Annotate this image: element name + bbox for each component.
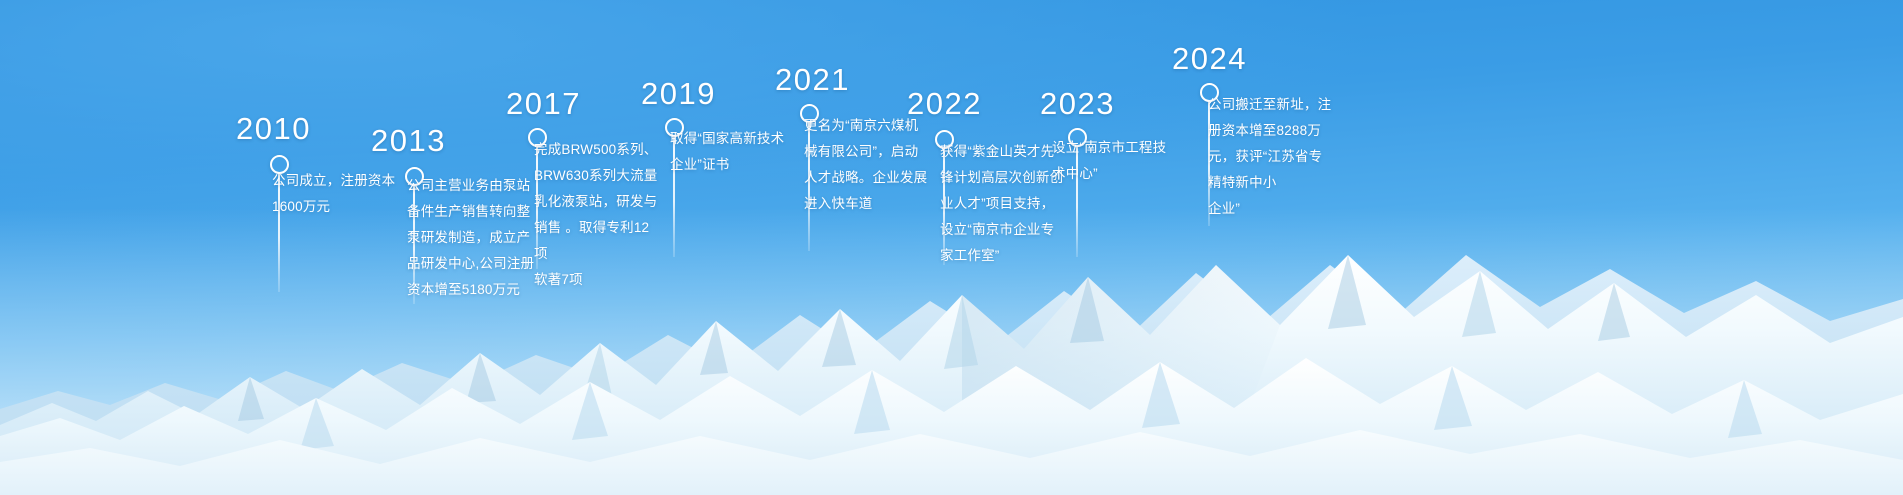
event-description: 获得“紫金山英才先 锋计划高层次创新创 业人才”项目支持， 设立“南京市企业专 … <box>940 139 1068 269</box>
event-description: 更名为“南京六煤机 械有限公司”，启动 人才战略。企业发展 进入快车道 <box>804 113 932 217</box>
event-year-label: 2024 <box>1172 43 1247 74</box>
event-description: 公司搬迁至新址，注 册资本增至8288万 元，获评“江苏省专 精特新中小 企业” <box>1208 92 1338 222</box>
event-year-label: 2022 <box>907 88 982 119</box>
event-year-label: 2019 <box>641 78 716 109</box>
event-description: 取得“国家高新技术 企业”证书 <box>670 126 798 178</box>
event-year-label: 2023 <box>1040 88 1115 119</box>
mountain-foreground-snowfield <box>0 400 1903 495</box>
event-description: 公司成立，注册资本 1600万元 <box>272 168 402 220</box>
event-description: 公司主营业务由泵站 备件生产销售转向整 泵研发制造，成立产 品研发中心,公司注册… <box>407 173 537 303</box>
event-year-label: 2010 <box>236 113 311 144</box>
event-year-label: 2013 <box>371 125 446 156</box>
timeline-infographic: 2010公司成立，注册资本 1600万元2013公司主营业务由泵站 备件生产销售… <box>0 0 1903 495</box>
event-description: 设立“南京市工程技 术中心” <box>1052 135 1180 187</box>
event-description: 完成BRW500系列、 BRW630系列大流量 乳化液泵站，研发与 销售 。取得… <box>534 137 662 292</box>
event-year-label: 2017 <box>506 88 581 119</box>
event-year-label: 2021 <box>775 64 850 95</box>
